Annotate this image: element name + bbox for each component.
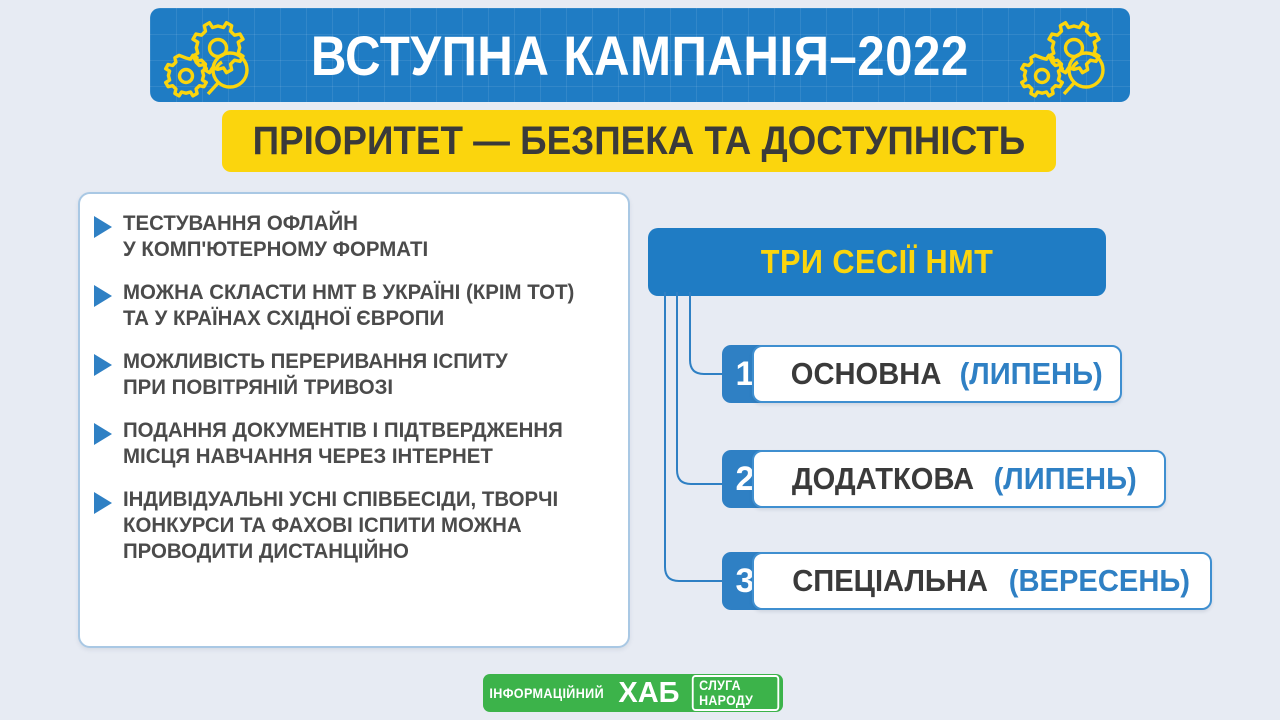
feature-text: ІНДИВІДУАЛЬНІ УСНІ СПІВБЕСІДИ, ТВОРЧІ КО… <box>123 486 558 565</box>
session-card[interactable]: ДОДАТКОВА (ЛИПЕНЬ) <box>752 450 1166 508</box>
gears-magnifier-icon-right <box>1014 12 1122 98</box>
session-month: (ВЕРЕСЕНЬ) <box>1009 563 1190 599</box>
session-name: СПЕЦІАЛЬНА <box>792 563 988 599</box>
feature-text: ТЕСТУВАННЯ ОФЛАЙН У КОМП'ЮТЕРНОМУ ФОРМАТ… <box>123 210 428 263</box>
feature-text: МОЖЛИВІСТЬ ПЕРЕРИВАННЯ ІСПИТУ ПРИ ПОВІТР… <box>123 348 508 401</box>
footer-info-label: ІНФОРМАЦІЙНИЙ <box>489 685 604 701</box>
arrow-right-triangle-icon <box>92 490 114 516</box>
session-name: ДОДАТКОВА <box>792 461 974 497</box>
footer-party-badge: СЛУГА НАРОДУ <box>691 675 779 711</box>
feature-item: ПОДАННЯ ДОКУМЕНТІВ І ПІДТВЕРДЖЕННЯ МІСЦЯ… <box>92 417 614 470</box>
session-month: (ЛИПЕНЬ) <box>993 461 1136 497</box>
feature-text: МОЖНА СКЛАСТИ НМТ В УКРАЇНІ (КРІМ ТОТ) Т… <box>123 279 574 332</box>
arrow-right-triangle-icon <box>92 352 114 378</box>
session-name: ОСНОВНА <box>791 356 942 392</box>
feature-item: МОЖЛИВІСТЬ ПЕРЕРИВАННЯ ІСПИТУ ПРИ ПОВІТР… <box>92 348 614 401</box>
session-row[interactable]: 3 СПЕЦІАЛЬНА (ВЕРЕСЕНЬ) <box>722 552 1212 610</box>
footer-hub-label: ХАБ <box>618 677 679 710</box>
session-card[interactable]: ОСНОВНА (ЛИПЕНЬ) <box>752 345 1122 403</box>
sessions-header-text: ТРИ СЕСІЇ НМТ <box>761 243 994 281</box>
gears-magnifier-icon <box>158 12 266 98</box>
session-card[interactable]: СПЕЦІАЛЬНА (ВЕРЕСЕНЬ) <box>752 552 1212 610</box>
arrow-right-triangle-icon <box>92 283 114 309</box>
header-banner: ВСТУПНА КАМПАНІЯ–2022 <box>150 8 1130 102</box>
session-row[interactable]: 2 ДОДАТКОВА (ЛИПЕНЬ) <box>722 450 1166 508</box>
session-row[interactable]: 1 ОСНОВНА (ЛИПЕНЬ) <box>722 345 1122 403</box>
feature-item: ІНДИВІДУАЛЬНІ УСНІ СПІВБЕСІДИ, ТВОРЧІ КО… <box>92 486 614 565</box>
page-title: ВСТУПНА КАМПАНІЯ–2022 <box>311 23 969 88</box>
features-card: ТЕСТУВАННЯ ОФЛАЙН У КОМП'ЮТЕРНОМУ ФОРМАТ… <box>78 192 630 648</box>
sessions-header: ТРИ СЕСІЇ НМТ <box>648 228 1106 296</box>
feature-item: МОЖНА СКЛАСТИ НМТ В УКРАЇНІ (КРІМ ТОТ) Т… <box>92 279 614 332</box>
arrow-right-triangle-icon <box>92 214 114 240</box>
arrow-right-triangle-icon <box>92 421 114 447</box>
session-month: (ЛИПЕНЬ) <box>960 356 1103 392</box>
feature-item: ТЕСТУВАННЯ ОФЛАЙН У КОМП'ЮТЕРНОМУ ФОРМАТ… <box>92 210 614 263</box>
subtitle-text: ПРІОРИТЕТ — БЕЗПЕКА ТА ДОСТУПНІСТЬ <box>253 119 1026 164</box>
footer-logo[interactable]: ІНФОРМАЦІЙНИЙ ХАБ СЛУГА НАРОДУ <box>483 674 783 712</box>
feature-text: ПОДАННЯ ДОКУМЕНТІВ І ПІДТВЕРДЖЕННЯ МІСЦЯ… <box>123 417 563 470</box>
subtitle-banner: ПРІОРИТЕТ — БЕЗПЕКА ТА ДОСТУПНІСТЬ <box>222 110 1056 172</box>
